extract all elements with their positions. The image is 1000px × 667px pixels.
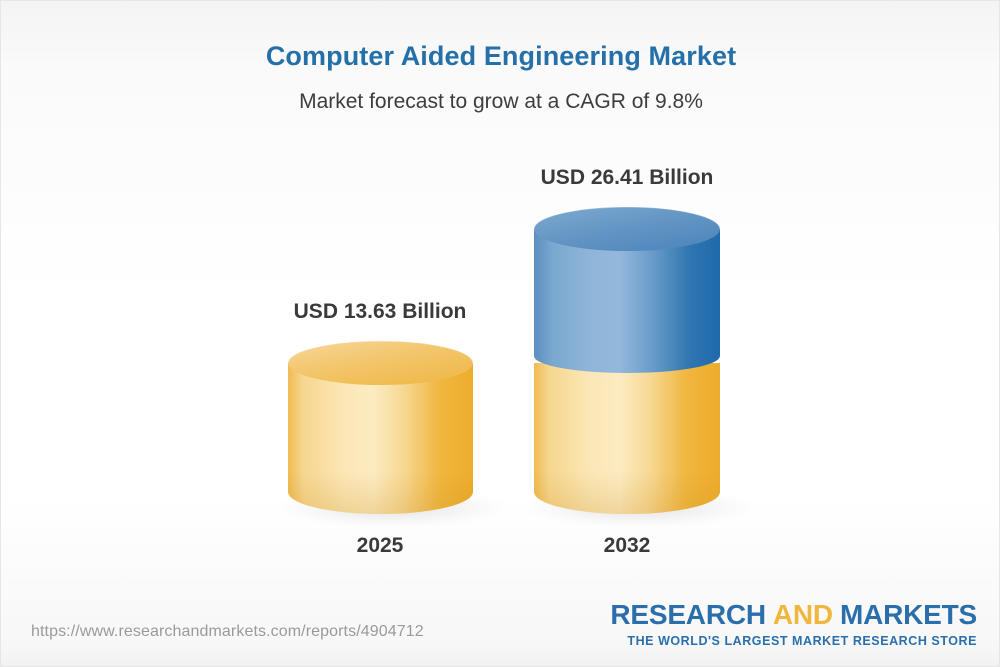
cylinder-bottom-shade-2032 — [534, 471, 720, 514]
logo-word-research: RESEARCH — [610, 599, 766, 630]
chart-plot-area: USD 13.63 Billion USD 26.41 Billion 2025… — [1, 1, 1000, 601]
value-label-2025: USD 13.63 Billion — [280, 300, 480, 324]
logo-word-and: AND — [766, 599, 840, 630]
logo-tagline: THE WORLD'S LARGEST MARKET RESEARCH STOR… — [610, 634, 977, 648]
logo-wordmark: RESEARCHANDMARKETS — [610, 601, 977, 629]
source-url[interactable]: https://www.researchandmarkets.com/repor… — [31, 623, 424, 641]
logo-word-markets: MARKETS — [840, 599, 977, 630]
category-label-2025: 2025 — [280, 534, 480, 558]
infographic-canvas: Computer Aided Engineering Market Market… — [0, 0, 1000, 667]
research-and-markets-logo[interactable]: RESEARCHANDMARKETS THE WORLD'S LARGEST M… — [610, 601, 977, 648]
value-label-2032: USD 26.41 Billion — [527, 166, 727, 190]
cylinder-bars-svg — [1, 1, 1000, 601]
cylinder-bottom-shade-2025 — [288, 471, 473, 514]
cylinder-bar-2032 — [534, 207, 720, 514]
cylinder-bar-2025 — [288, 341, 473, 514]
category-label-2032: 2032 — [527, 534, 727, 558]
